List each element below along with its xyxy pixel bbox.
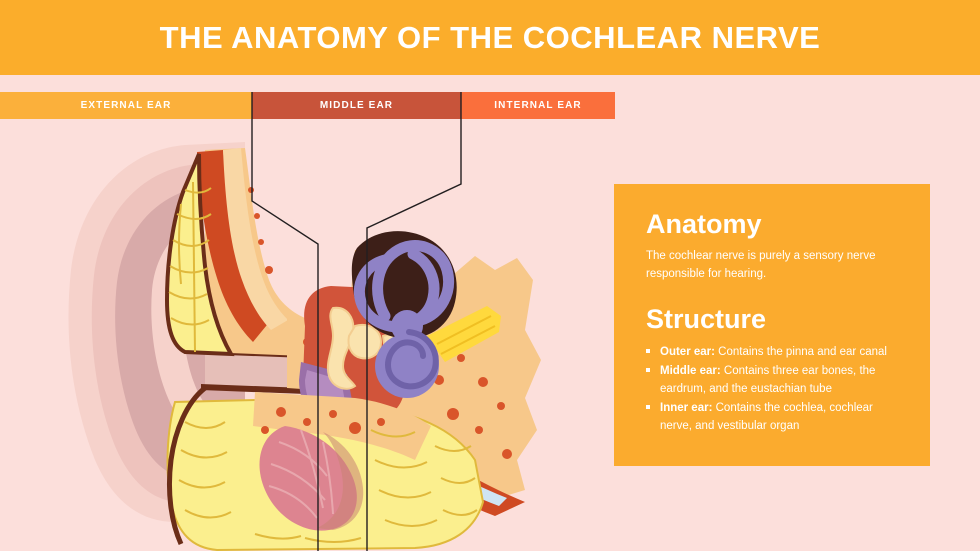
info-panel: Anatomy The cochlear nerve is purely a s… — [614, 184, 930, 466]
tab-middle-ear[interactable]: MIDDLE EAR — [252, 92, 461, 119]
infographic-page: THE ANATOMY OF THE COCHLEAR NERVE EXTERN… — [0, 0, 980, 551]
tab-external-ear-label: EXTERNAL EAR — [81, 100, 172, 111]
list-item: Outer ear: Contains the pinna and ear ca… — [646, 343, 906, 361]
structure-list: Outer ear: Contains the pinna and ear ca… — [646, 343, 906, 436]
list-item-term: Outer ear: — [660, 346, 715, 358]
list-item-term: Middle ear: — [660, 365, 721, 377]
header-bar: THE ANATOMY OF THE COCHLEAR NERVE — [0, 0, 980, 75]
ossicle-incus — [349, 325, 382, 358]
list-item-term: Inner ear: — [660, 402, 712, 414]
bullet-square-icon — [646, 349, 650, 353]
ear-cross-section-illustration — [55, 130, 615, 551]
tab-external-ear[interactable]: EXTERNAL EAR — [0, 92, 252, 119]
list-item: Middle ear: Contains three ear bones, th… — [646, 362, 906, 398]
anatomy-description: The cochlear nerve is purely a sensory n… — [646, 247, 906, 284]
structure-heading: Structure — [646, 305, 906, 335]
anatomy-heading: Anatomy — [646, 210, 906, 240]
bullet-square-icon — [646, 405, 650, 409]
ear-section-tabs: EXTERNAL EAR MIDDLE EAR INTERNAL EAR — [0, 92, 615, 119]
tab-internal-ear-label: INTERNAL EAR — [494, 100, 581, 111]
page-title: THE ANATOMY OF THE COCHLEAR NERVE — [160, 20, 821, 56]
tab-middle-ear-label: MIDDLE EAR — [320, 100, 393, 111]
bullet-square-icon — [646, 368, 650, 372]
tab-internal-ear[interactable]: INTERNAL EAR — [461, 92, 615, 119]
list-item-text: Contains the pinna and ear canal — [715, 346, 887, 358]
list-item: Inner ear: Contains the cochlea, cochlea… — [646, 399, 906, 435]
